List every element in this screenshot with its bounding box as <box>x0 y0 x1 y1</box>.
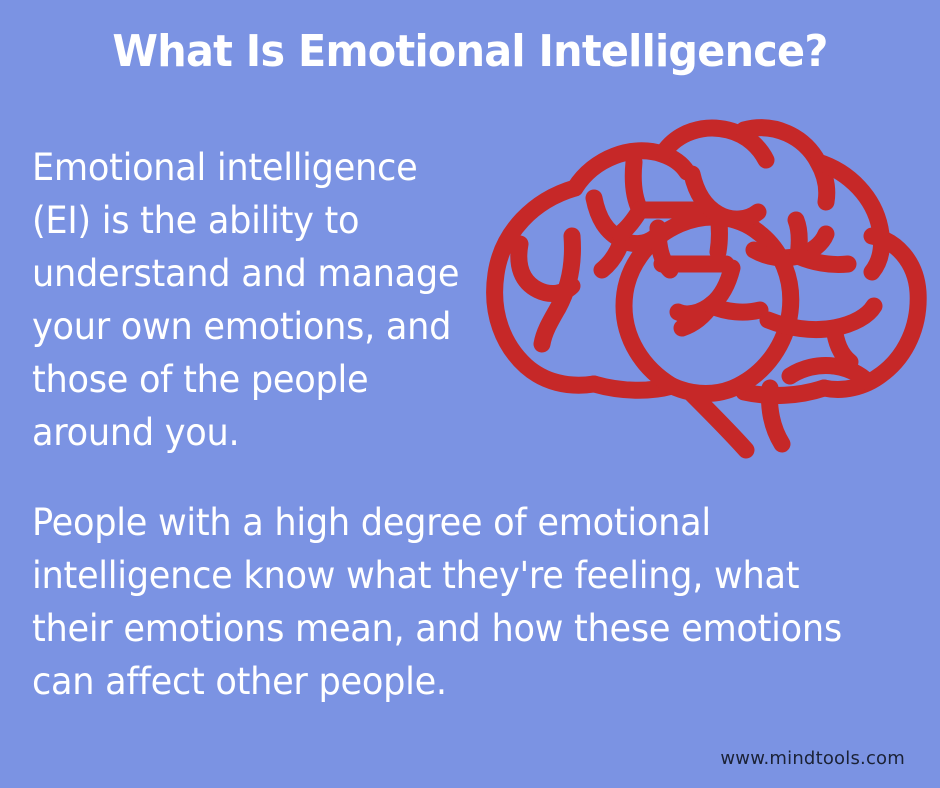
brain-icon <box>482 116 934 476</box>
body-paragraph-2: People with a high degree of emotional i… <box>32 496 868 708</box>
brain-illustration <box>482 116 934 476</box>
body-paragraph-1: Emotional intelligence (EI) is the abili… <box>32 141 479 459</box>
infographic-card: What Is Emotional Intelligence? <box>0 0 940 788</box>
footer-url[interactable]: www.mindtools.com <box>720 748 905 769</box>
page-title: What Is Emotional Intelligence? <box>28 26 912 78</box>
